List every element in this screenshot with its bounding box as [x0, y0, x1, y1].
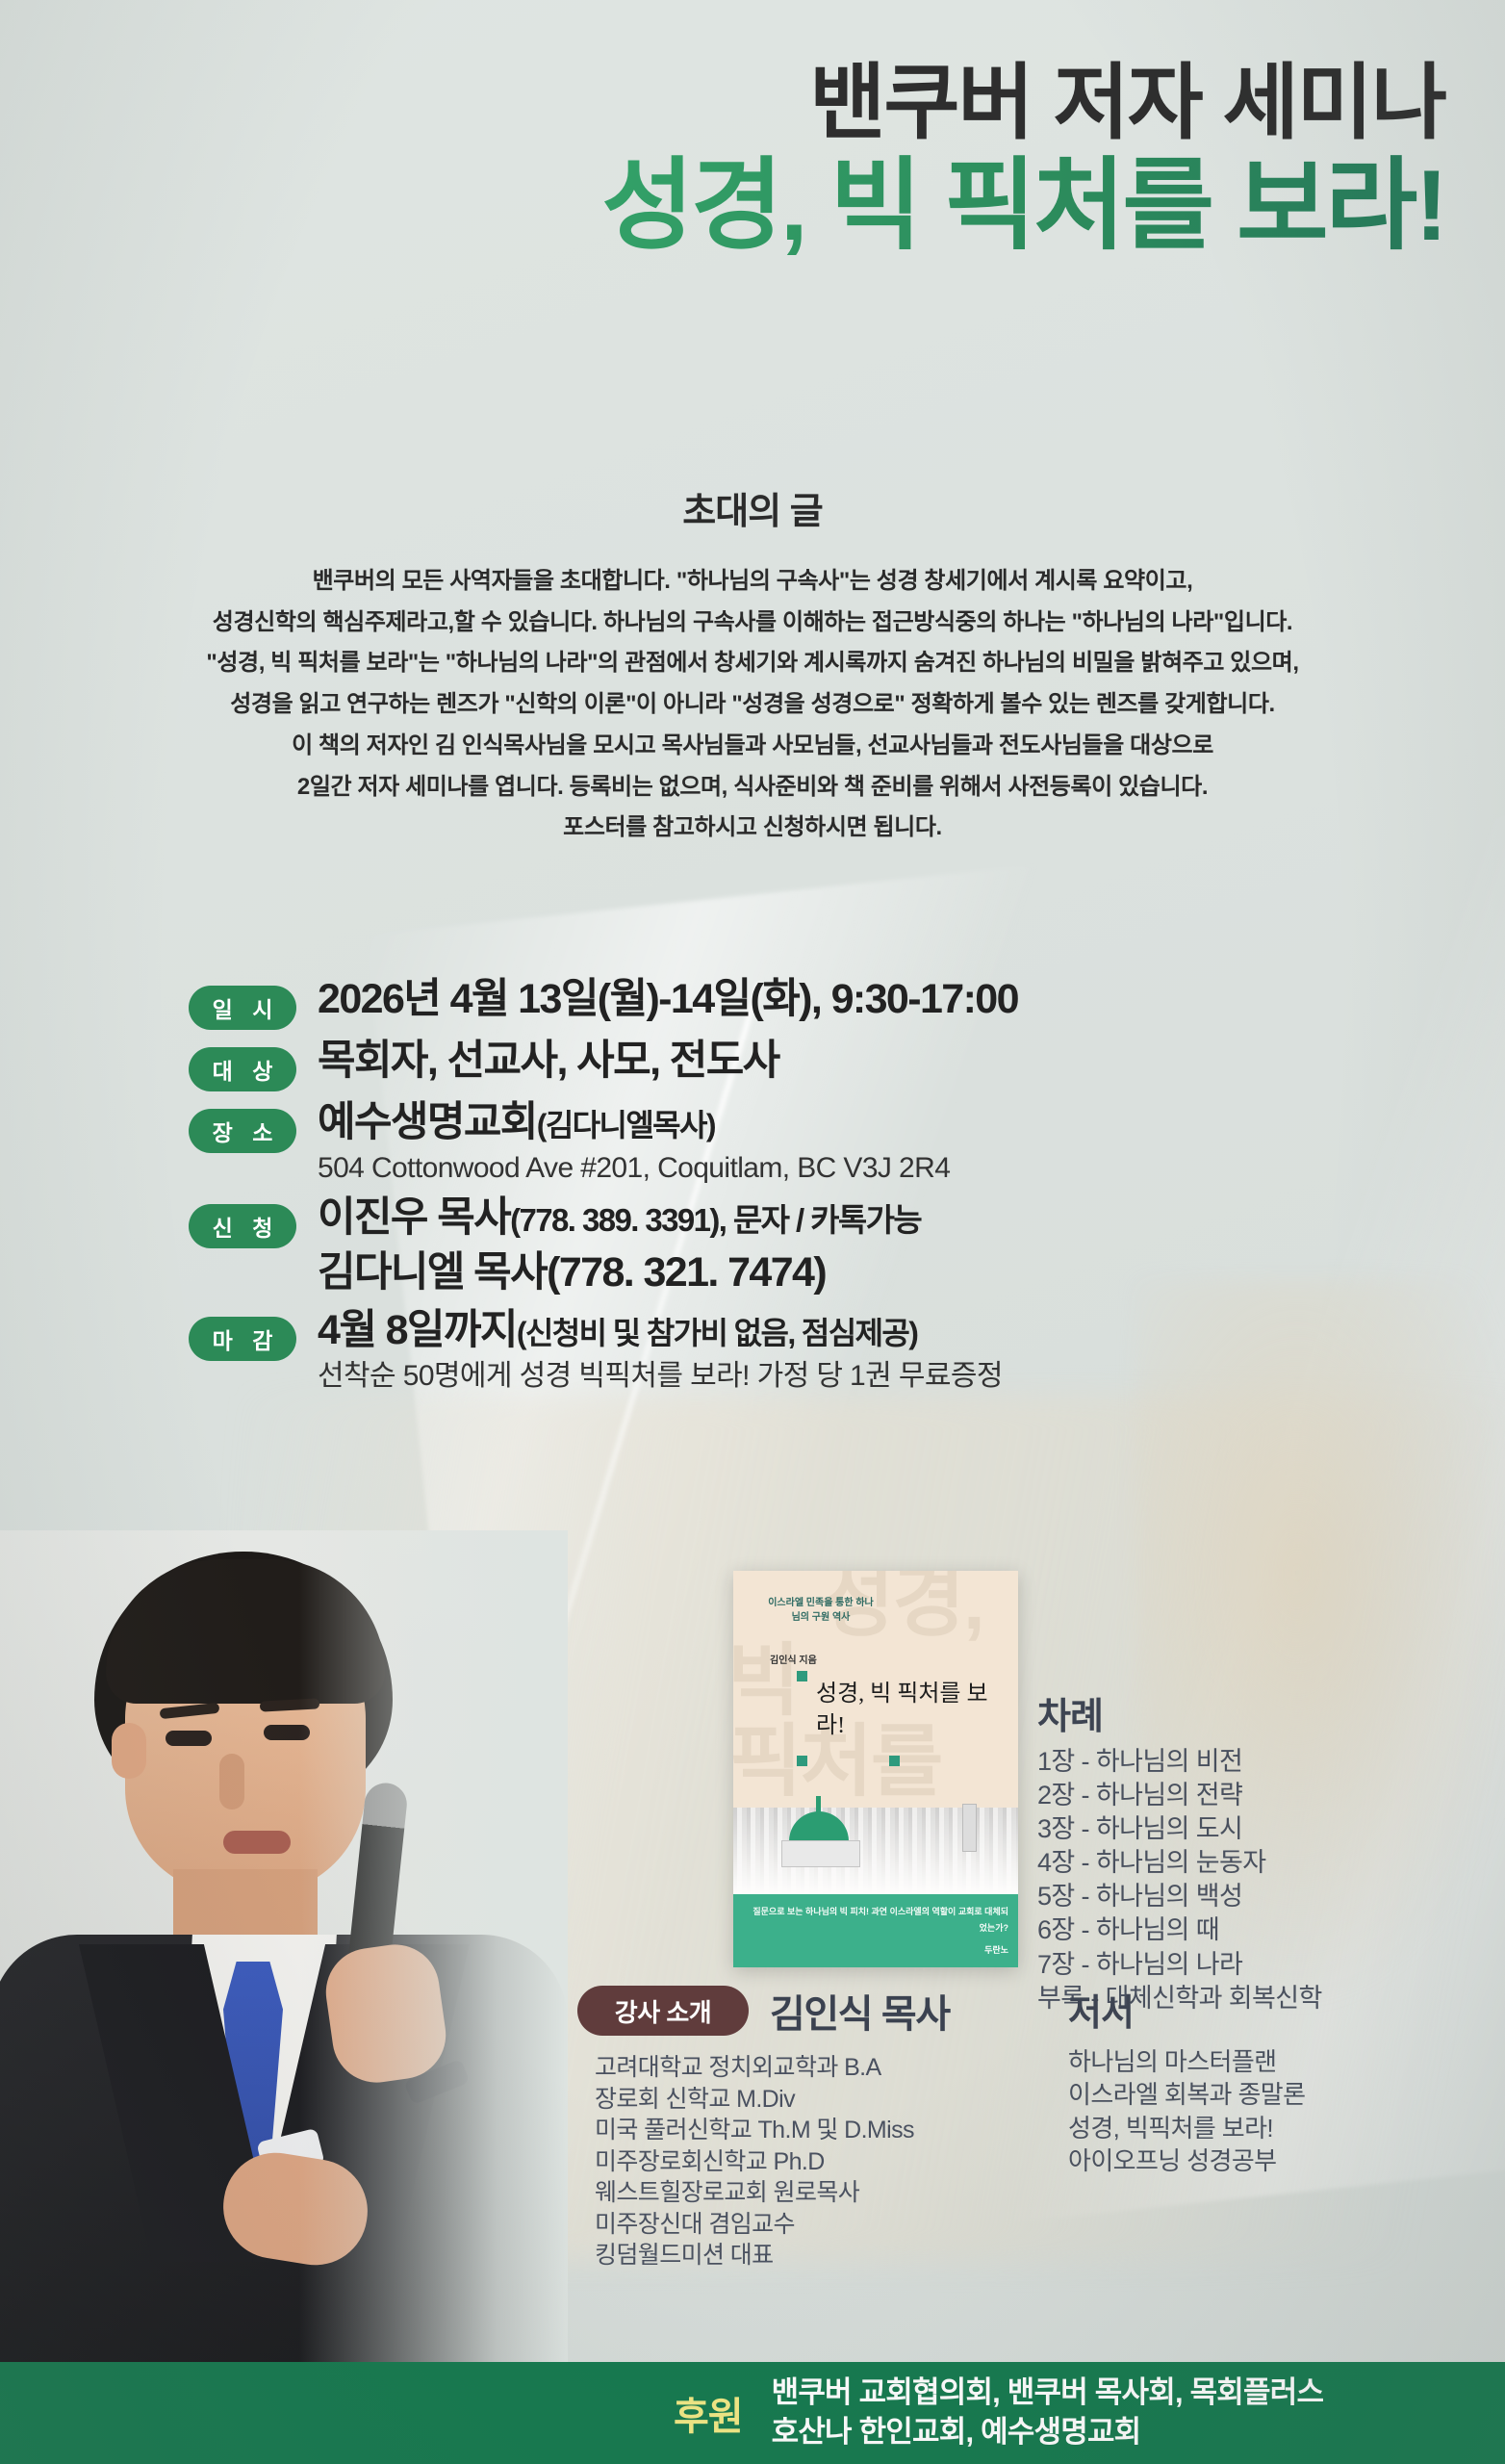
invitation-line: 이 책의 저자인 김 인식목사님을 모시고 목사님들과 사모님들, 선교사님들과… — [0, 726, 1505, 767]
book-band-text: 질문으로 보는 하나님의 빅 피치! 과연 이스라엘의 역할이 교회로 대체되었… — [747, 1904, 1008, 1936]
book-cover-image: 성경, 빅 픽처를 이스라엘 민족을 통한 하나님의 구원 역사 김인식 지음 … — [733, 1571, 1018, 1967]
credential-item: 장로회 신학교 M.Div — [595, 2084, 1078, 2116]
contact2-phone[interactable]: (778. 321. 7474) — [547, 1249, 826, 1296]
credential-item: 미국 풀러신학교 Th.M 및 D.Miss — [595, 2115, 1078, 2146]
invitation-line: 성경신학의 핵심주제라고,할 수 있습니다. 하나님의 구속사를 이해하는 접근… — [0, 603, 1505, 644]
detail-row-datetime: 일 시 2026년 4월 13일(월)-14일(화), 9:30-17:00 — [189, 974, 1430, 1030]
invitation-line: 성경을 읽고 연구하는 렌즈가 "신학의 이론"이 아니라 "성경을 성경으로"… — [0, 684, 1505, 726]
invitation-line: "성경, 빅 픽처를 보라"는 "하나님의 나라"의 관점에서 창세기와 계시록… — [0, 643, 1505, 684]
seminar-title-secondary: 성경, 빅 픽처를 보라! — [601, 152, 1445, 260]
registration-contact-1: 이진우 목사(778. 389. 3391), 문자 / 카톡가능 — [318, 1193, 921, 1243]
speaker-bio-section: 강사 소개 김인식 목사 고려대학교 정치외교학과 B.A 장로회 신학교 M.… — [577, 1983, 1078, 2271]
toc-item: 7장 - 하나님의 나라 — [1037, 1948, 1422, 1982]
deadline-gift-note: 선착순 50명에게 성경 빅픽처를 보라! 가정 당 1권 무료증정 — [318, 1357, 1003, 1395]
credential-item: 킹덤월드미션 대표 — [595, 2240, 1078, 2271]
label-pill-audience: 대 상 — [189, 1047, 296, 1091]
label-pill-speaker-intro: 강사 소개 — [577, 1986, 749, 2036]
invitation-line: 포스터를 참고하시고 신청하시면 됩니다. — [0, 808, 1505, 849]
toc-item: 6장 - 하나님의 때 — [1037, 1913, 1422, 1947]
poster-header: 밴쿠버 저자 세미나 성경, 빅 픽처를 보라! — [601, 60, 1445, 261]
detail-row-audience: 대 상 목회자, 선교사, 사모, 전도사 — [189, 1036, 1430, 1091]
contact2-name: 김다니엘 목사 — [318, 1249, 547, 1296]
deadline-date: 4월 8일까지 — [318, 1307, 517, 1353]
credential-item: 고려대학교 정치외교학과 B.A — [595, 2052, 1078, 2084]
toc-item: 3장 - 하나님의 도시 — [1037, 1812, 1422, 1846]
sponsor-line: 호산나 한인교회, 예수생명교회 — [772, 2413, 1324, 2452]
detail-value-audience: 목회자, 선교사, 사모, 전도사 — [318, 1036, 779, 1086]
speaker-name: 김인식 목사 — [770, 1983, 950, 2039]
label-pill-venue: 장 소 — [189, 1109, 296, 1153]
detail-row-venue: 장 소 예수생명교회(김다니엘목사) 504 Cottonwood Ave #2… — [189, 1097, 1430, 1187]
speaker-photo — [0, 1530, 568, 2397]
invitation-section: 초대의 글 밴쿠버의 모든 사역자들을 초대합니다. "하나님의 구속사"는 성… — [0, 481, 1505, 849]
published-books-section: 저서 하나님의 마스터플랜 이스라엘 회복과 종말론 성경, 빅픽처를 보라! … — [1068, 1983, 1453, 2177]
book-minaret — [962, 1804, 977, 1852]
detail-row-deadline: 마 감 4월 8일까지(신청비 및 참가비 없음, 점심제공) 선착순 50명에… — [189, 1305, 1430, 1395]
detail-value-datetime: 2026년 4월 13일(월)-14일(화), 9:30-17:00 — [318, 974, 1018, 1024]
sponsor-line: 밴쿠버 교회협의회, 밴쿠버 목사회, 목회플러스 — [772, 2374, 1324, 2413]
books-heading: 저서 — [1068, 1983, 1453, 2036]
venue-address: 504 Cottonwood Ave #201, Coquitlam, BC V… — [318, 1149, 950, 1187]
poster-root: 밴쿠버 저자 세미나 성경, 빅 픽처를 보라! 초대의 글 밴쿠버의 모든 사… — [0, 0, 1505, 2464]
invitation-heading: 초대의 글 — [0, 481, 1505, 534]
book-author: 김인식 지음 — [770, 1652, 817, 1666]
credential-item: 미주장신대 겸임교수 — [595, 2209, 1078, 2241]
book-item: 성경, 빅픽처를 보라! — [1068, 2112, 1453, 2144]
invitation-paragraph: 밴쿠버의 모든 사역자들을 초대합니다. "하나님의 구속사"는 성경 창세기에… — [0, 561, 1505, 849]
registration-contact-2: 김다니엘 목사(778. 321. 7474) — [318, 1247, 921, 1299]
venue-name: 예수생명교회 — [318, 1099, 537, 1145]
sponsor-label: 후원 — [674, 2385, 743, 2441]
invitation-line: 2일간 저자 세미나를 엽니다. 등록비는 없으며, 식사준비와 책 준비를 위… — [0, 767, 1505, 808]
credential-item: 미주장로회신학교 Ph.D — [595, 2146, 1078, 2178]
sponsor-names: 밴쿠버 교회협의회, 밴쿠버 목사회, 목회플러스 호산나 한인교회, 예수생명… — [772, 2374, 1324, 2452]
book-publisher: 두란노 — [984, 1943, 1008, 1956]
label-pill-deadline: 마 감 — [189, 1317, 296, 1361]
book-accent-square-3 — [889, 1756, 900, 1766]
detail-value-venue: 예수생명교회(김다니엘목사) — [318, 1097, 950, 1147]
label-pill-datetime: 일 시 — [189, 986, 296, 1030]
detail-body-registration: 이진우 목사(778. 389. 3391), 문자 / 카톡가능 김다니엘 목… — [318, 1193, 921, 1298]
invitation-line: 밴쿠버의 모든 사역자들을 초대합니다. "하나님의 구속사"는 성경 창세기에… — [0, 561, 1505, 603]
book-accent-square-2 — [797, 1756, 807, 1766]
speaker-bio-header: 강사 소개 김인식 목사 — [577, 1983, 1078, 2039]
detail-body-deadline: 4월 8일까지(신청비 및 참가비 없음, 점심제공) 선착순 50명에게 성경… — [318, 1305, 1003, 1395]
detail-row-registration: 신 청 이진우 목사(778. 389. 3391), 문자 / 카톡가능 김다… — [189, 1193, 1430, 1298]
deadline-note-paren: (신청비 및 참가비 없음, 점심제공) — [517, 1316, 918, 1350]
book-item: 하나님의 마스터플랜 — [1068, 2045, 1453, 2078]
toc-item: 1장 - 하나님의 비전 — [1037, 1745, 1422, 1779]
detail-body-audience: 목회자, 선교사, 사모, 전도사 — [318, 1036, 779, 1086]
toc-heading: 차례 — [1037, 1686, 1422, 1739]
book-bottom-band: 질문으로 보는 하나님의 빅 피치! 과연 이스라엘의 역할이 교회로 대체되었… — [733, 1894, 1018, 1967]
toc-item: 2장 - 하나님의 전략 — [1037, 1779, 1422, 1812]
toc-item: 5장 - 하나님의 백성 — [1037, 1880, 1422, 1913]
seminar-title-primary: 밴쿠버 저자 세미나 — [601, 60, 1445, 146]
contact1-phone[interactable]: (778. 389. 3391), 문자 / 카톡가능 — [510, 1202, 921, 1238]
book-title: 성경, 빅 픽처를 보라! — [816, 1679, 1008, 1741]
sponsors-footer: 후원 밴쿠버 교회협의회, 밴쿠버 목사회, 목회플러스 호산나 한인교회, 예… — [0, 2362, 1505, 2464]
book-item: 아이오프닝 성경공부 — [1068, 2144, 1453, 2177]
contact1-name: 이진우 목사 — [318, 1194, 510, 1241]
detail-body-datetime: 2026년 4월 13일(월)-14일(화), 9:30-17:00 — [318, 974, 1018, 1024]
book-accent-square-1 — [797, 1671, 807, 1681]
book-item: 이스라엘 회복과 종말론 — [1068, 2078, 1453, 2111]
event-details-list: 일 시 2026년 4월 13일(월)-14일(화), 9:30-17:00 대… — [189, 974, 1430, 1400]
label-pill-registration: 신 청 — [189, 1204, 296, 1248]
venue-pastor: (김다니엘목사) — [537, 1108, 715, 1142]
credential-item: 웨스트힐장로교회 원로목사 — [595, 2177, 1078, 2209]
table-of-contents-section: 차례 1장 - 하나님의 비전 2장 - 하나님의 전략 3장 - 하나님의 도… — [1037, 1686, 1422, 2015]
book-dome-base — [781, 1840, 860, 1867]
toc-item: 4장 - 하나님의 눈동자 — [1037, 1846, 1422, 1880]
book-subtitle: 이스라엘 민족을 통한 하나님의 구원 역사 — [768, 1596, 874, 1625]
deadline-value: 4월 8일까지(신청비 및 참가비 없음, 점심제공) — [318, 1305, 1003, 1355]
detail-body-venue: 예수생명교회(김다니엘목사) 504 Cottonwood Ave #201, … — [318, 1097, 950, 1187]
speaker-credentials-list: 고려대학교 정치외교학과 B.A 장로회 신학교 M.Div 미국 풀러신학교 … — [595, 2052, 1078, 2271]
photo-edge-fade — [0, 1530, 568, 2397]
